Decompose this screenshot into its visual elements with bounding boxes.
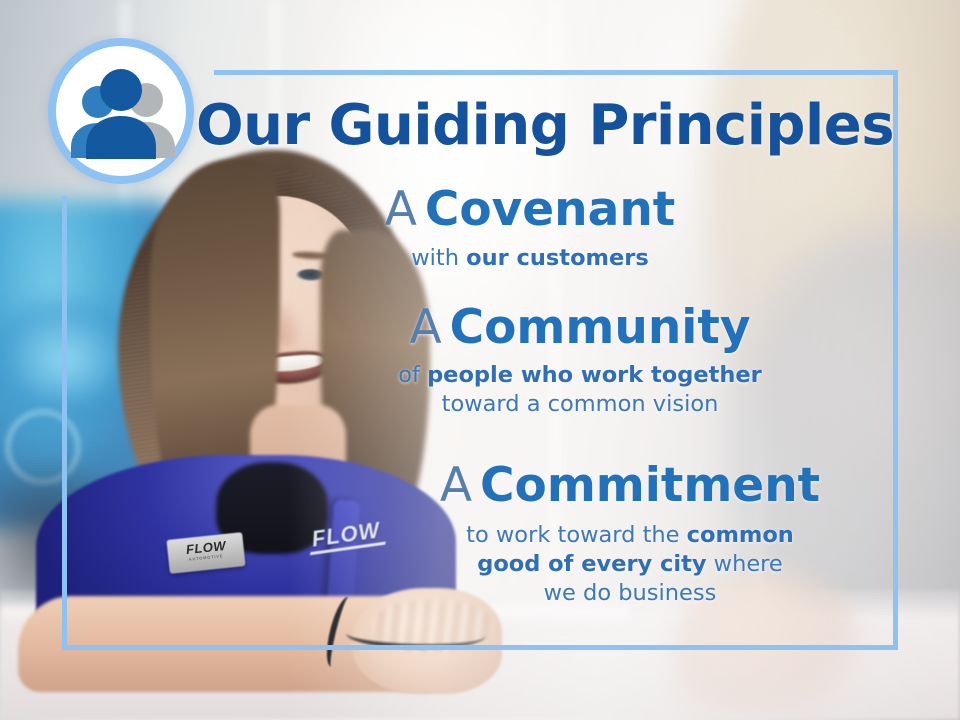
subtext-run: to work toward the [466,522,687,548]
subtext-emphasis: good of every city [477,551,706,577]
principle-heading: ACovenant [300,186,760,234]
principle-subtext: to work toward the commongood of every c… [380,521,880,609]
subtext-run: with [411,245,466,271]
principle-keyword: Community [450,300,751,355]
principle-heading: ACommitment [380,462,880,510]
principle-heading: ACommunity [330,304,830,352]
subtext-run: toward a common vision [442,391,719,417]
principle-article: A [409,300,441,355]
subtext-emphasis: our customers [466,245,649,271]
principle-subtext: with our customers [300,244,760,273]
subtext-emphasis: common [687,522,794,548]
principle-keyword: Covenant [425,182,675,237]
subtext-run: where [707,551,783,577]
principle-community: ACommunity of people who work togetherto… [330,304,830,419]
guiding-principles-graphic: FLOW AUTOMOTIVE FLOW [0,0,960,720]
principle-covenant: ACovenant with our customers [300,186,760,273]
principle-article: A [385,182,417,237]
principle-subtext: of people who work togethertoward a comm… [330,361,830,420]
principle-commitment: ACommitment to work toward the commongoo… [380,462,880,609]
subtext-run: of [398,362,427,388]
page-title: Our Guiding Principles [0,93,960,158]
principle-article: A [440,458,472,513]
subtext-emphasis: people who work together [427,362,762,388]
principle-keyword: Commitment [480,458,820,513]
subtext-run: we do business [544,580,717,606]
